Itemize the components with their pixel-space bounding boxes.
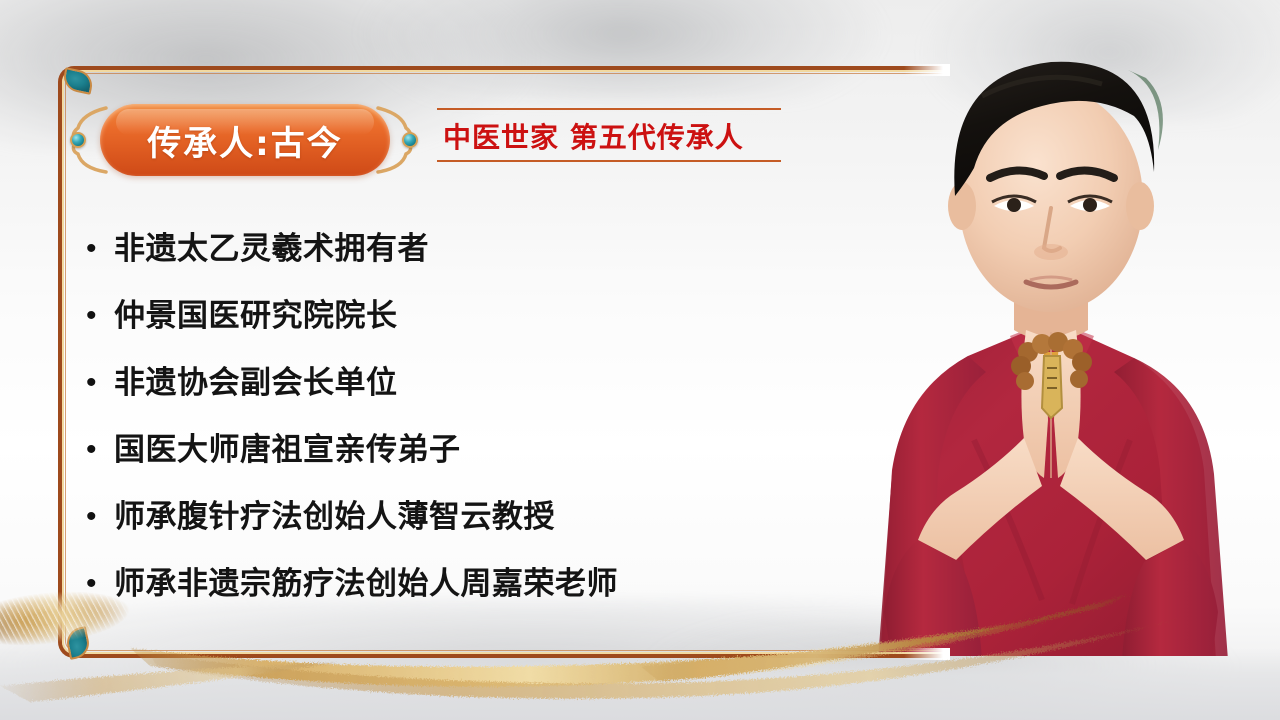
credentials-list: • 非遗太乙灵羲术拥有者 • 仲景国医研究院院长 • 非遗协会副会长单位 • 国… [82, 226, 842, 628]
badge-gem-right-icon [402, 132, 418, 148]
title-badge: 传承人:古今 [100, 104, 390, 176]
bullet-marker-icon: • [82, 226, 114, 272]
bullet-marker-icon: • [82, 293, 114, 339]
list-item-label: 非遗协会副会长单位 [114, 360, 398, 406]
list-item-label: 仲景国医研究院院长 [114, 293, 398, 339]
list-item: • 师承腹针疗法创始人薄智云教授 [82, 494, 842, 561]
bullet-marker-icon: • [82, 561, 114, 607]
bullet-marker-icon: • [82, 427, 114, 473]
badge-gem-left-icon [70, 132, 86, 148]
list-item: • 非遗协会副会长单位 [82, 360, 842, 427]
list-item: • 国医大师唐祖宣亲传弟子 [82, 427, 842, 494]
list-item-label: 师承非遗宗筋疗法创始人周嘉荣老师 [114, 561, 618, 607]
bullet-marker-icon: • [82, 360, 114, 406]
list-item: • 师承非遗宗筋疗法创始人周嘉荣老师 [82, 561, 842, 628]
badge-label: 传承人:古今 [100, 104, 390, 176]
subtitle-block: 中医世家 第五代传承人 [437, 108, 781, 162]
subtitle-rule-bottom [437, 160, 781, 162]
list-item-label: 师承腹针疗法创始人薄智云教授 [114, 494, 555, 540]
list-item: • 仲景国医研究院院长 [82, 293, 842, 360]
list-item-label: 非遗太乙灵羲术拥有者 [114, 226, 429, 272]
frame-rail-fade-top [904, 64, 950, 76]
list-item: • 非遗太乙灵羲术拥有者 [82, 226, 842, 293]
bullet-marker-icon: • [82, 494, 114, 540]
subtitle-text: 中医世家 第五代传承人 [437, 110, 781, 160]
slide-canvas: 传承人:古今 中医世家 第五代传承人 • 非遗太乙灵羲术拥有者 • 仲景国医研究… [0, 0, 1280, 720]
list-item-label: 国医大师唐祖宣亲传弟子 [114, 427, 461, 473]
